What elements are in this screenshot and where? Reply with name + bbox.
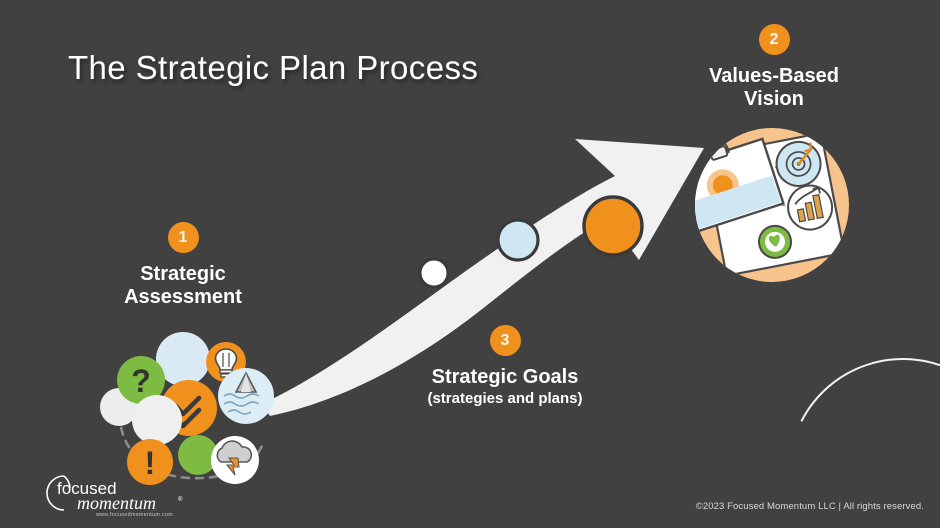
milestone-small — [420, 259, 448, 287]
step-label-strategic-goals[interactable]: 3 Strategic Goals (strategies and plans) — [405, 325, 605, 407]
milestone-large — [584, 197, 642, 255]
step-subtitle-3: (strategies and plans) — [405, 390, 605, 407]
vision-board-scene — [666, 119, 849, 283]
slide-canvas: ? — [0, 0, 940, 528]
storm-cloud-icon — [211, 436, 259, 484]
step-title-2: Values-Based Vision — [684, 65, 864, 111]
step-title-1: Strategic Assessment — [88, 263, 278, 309]
copyright-text: ©2023 Focused Momentum LLC | All rights … — [696, 501, 924, 512]
iceberg-icon — [218, 368, 274, 424]
step-label-strategic-assessment[interactable]: 1 Strategic Assessment — [88, 222, 278, 309]
step-label-values-based-vision[interactable]: 2 Values-Based Vision — [684, 24, 864, 111]
step-badge-2: 2 — [759, 24, 790, 55]
logo-url: www.focusedmomentum.com — [96, 512, 173, 518]
focused-momentum-logo[interactable]: focused momentum ® www.focusedmomentum.c… — [30, 468, 195, 518]
vision-board — [666, 119, 844, 283]
svg-text:?: ? — [131, 363, 151, 399]
page-title: The Strategic Plan Process — [68, 49, 478, 87]
blank-white-icon — [132, 395, 182, 445]
strategic-assessment-icon-cluster: ? — [100, 332, 274, 485]
milestone-medium — [498, 220, 538, 260]
svg-text:®: ® — [178, 496, 183, 503]
step-badge-1: 1 — [168, 222, 199, 253]
step-title-3: Strategic Goals — [405, 366, 605, 389]
logo-word-momentum: momentum — [77, 493, 156, 513]
step-badge-3: 3 — [490, 325, 521, 356]
